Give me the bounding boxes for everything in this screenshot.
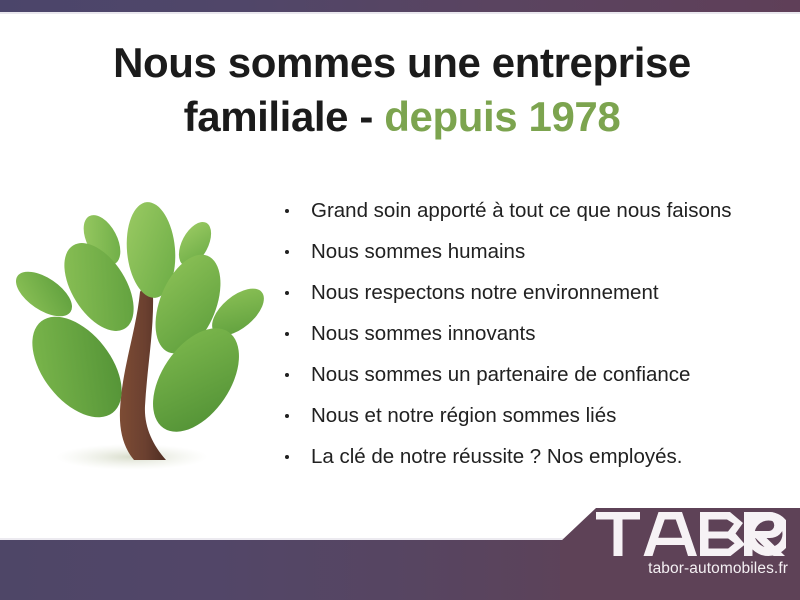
title-line-1: Nous sommes une entreprise	[113, 39, 691, 86]
list-item-label: Nous respectons notre environnement	[311, 281, 659, 304]
slide-canvas: Nous sommes une entreprise familiale - d…	[0, 0, 800, 600]
bullet-dot-icon	[285, 373, 289, 377]
list-item: Nous respectons notre environnement	[282, 272, 782, 313]
bullet-dot-icon	[285, 332, 289, 336]
list-item: La clé de notre réussite ? Nos employés.	[282, 436, 782, 477]
list-item-label: Nous sommes un partenaire de confiance	[311, 363, 690, 386]
bullet-dot-icon	[285, 291, 289, 295]
list-item: Nous sommes innovants	[282, 313, 782, 354]
logo-tagline: tabor-automobiles.fr	[596, 560, 788, 578]
top-accent-bar	[0, 0, 800, 12]
tree-illustration	[14, 182, 276, 488]
bullet-dot-icon	[285, 250, 289, 254]
title-line-2-plain: familiale -	[184, 93, 373, 140]
list-item-label: Nous sommes humains	[311, 240, 525, 263]
list-item-label: Nous sommes innovants	[311, 322, 535, 345]
list-item-label: Nous et notre région sommes liés	[311, 404, 616, 427]
list-item-label: La clé de notre réussite ? Nos employés.	[311, 445, 682, 468]
tabor-logo-wordmark	[596, 512, 786, 558]
title-line-2-accent: depuis 1978	[384, 93, 620, 140]
bullet-dot-icon	[285, 455, 289, 459]
page-title: Nous sommes une entreprise familiale - d…	[60, 36, 744, 144]
list-item: Grand soin apporté à tout ce que nous fa…	[282, 190, 782, 231]
list-item: Nous et notre région sommes liés	[282, 395, 782, 436]
list-item: Nous sommes un partenaire de confiance	[282, 354, 782, 395]
bullet-dot-icon	[285, 414, 289, 418]
value-bullet-list: Grand soin apporté à tout ce que nous fa…	[282, 190, 782, 477]
list-item: Nous sommes humains	[282, 231, 782, 272]
top-accent-hairline	[0, 12, 800, 14]
bullet-dot-icon	[285, 209, 289, 213]
list-item-label: Grand soin apporté à tout ce que nous fa…	[311, 199, 732, 222]
